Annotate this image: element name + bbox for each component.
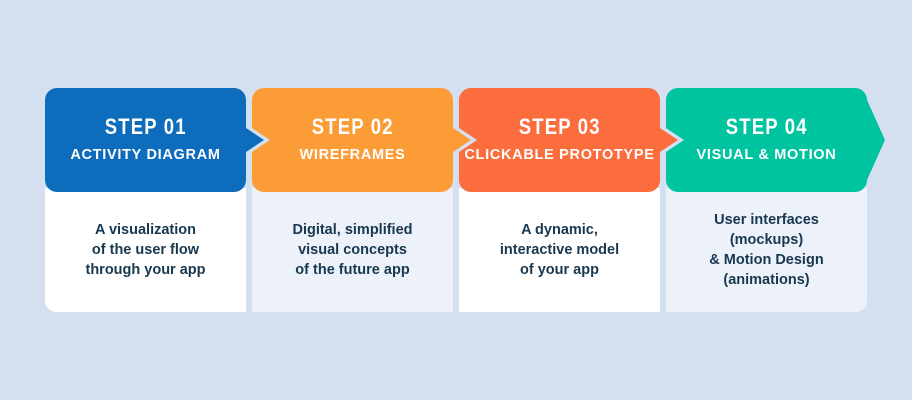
step-card-1[interactable]: STEP 01 ACTIVITY DIAGRAM A visualization… [42,88,249,312]
step-header-chevron-shape [249,88,456,192]
step-header-fill [45,88,264,192]
step-header-fill [666,88,885,192]
step-description: A visualization of the user flow through… [45,188,246,312]
step-header-chevron-shape [663,88,870,192]
step-header-chevron-shape [456,88,663,192]
step-card-4[interactable]: STEP 04 VISUAL & MOTION User interfaces … [663,88,870,312]
step-header-fill [459,88,678,192]
step-description: User interfaces (mockups) & Motion Desig… [666,188,867,312]
step-description: A dynamic, interactive model of your app [459,188,660,312]
step-card-3[interactable]: STEP 03 CLICKABLE PROTOTYPE A dynamic, i… [456,88,663,312]
process-steps-infographic: STEP 01 ACTIVITY DIAGRAM A visualization… [0,0,912,400]
step-header-chevron-shape [42,88,249,192]
steps-row: STEP 01 ACTIVITY DIAGRAM A visualization… [42,88,870,312]
step-description: Digital, simplified visual concepts of t… [252,188,453,312]
step-card-2[interactable]: STEP 02 WIREFRAMES Digital, simplified v… [249,88,456,312]
step-header-fill [252,88,471,192]
